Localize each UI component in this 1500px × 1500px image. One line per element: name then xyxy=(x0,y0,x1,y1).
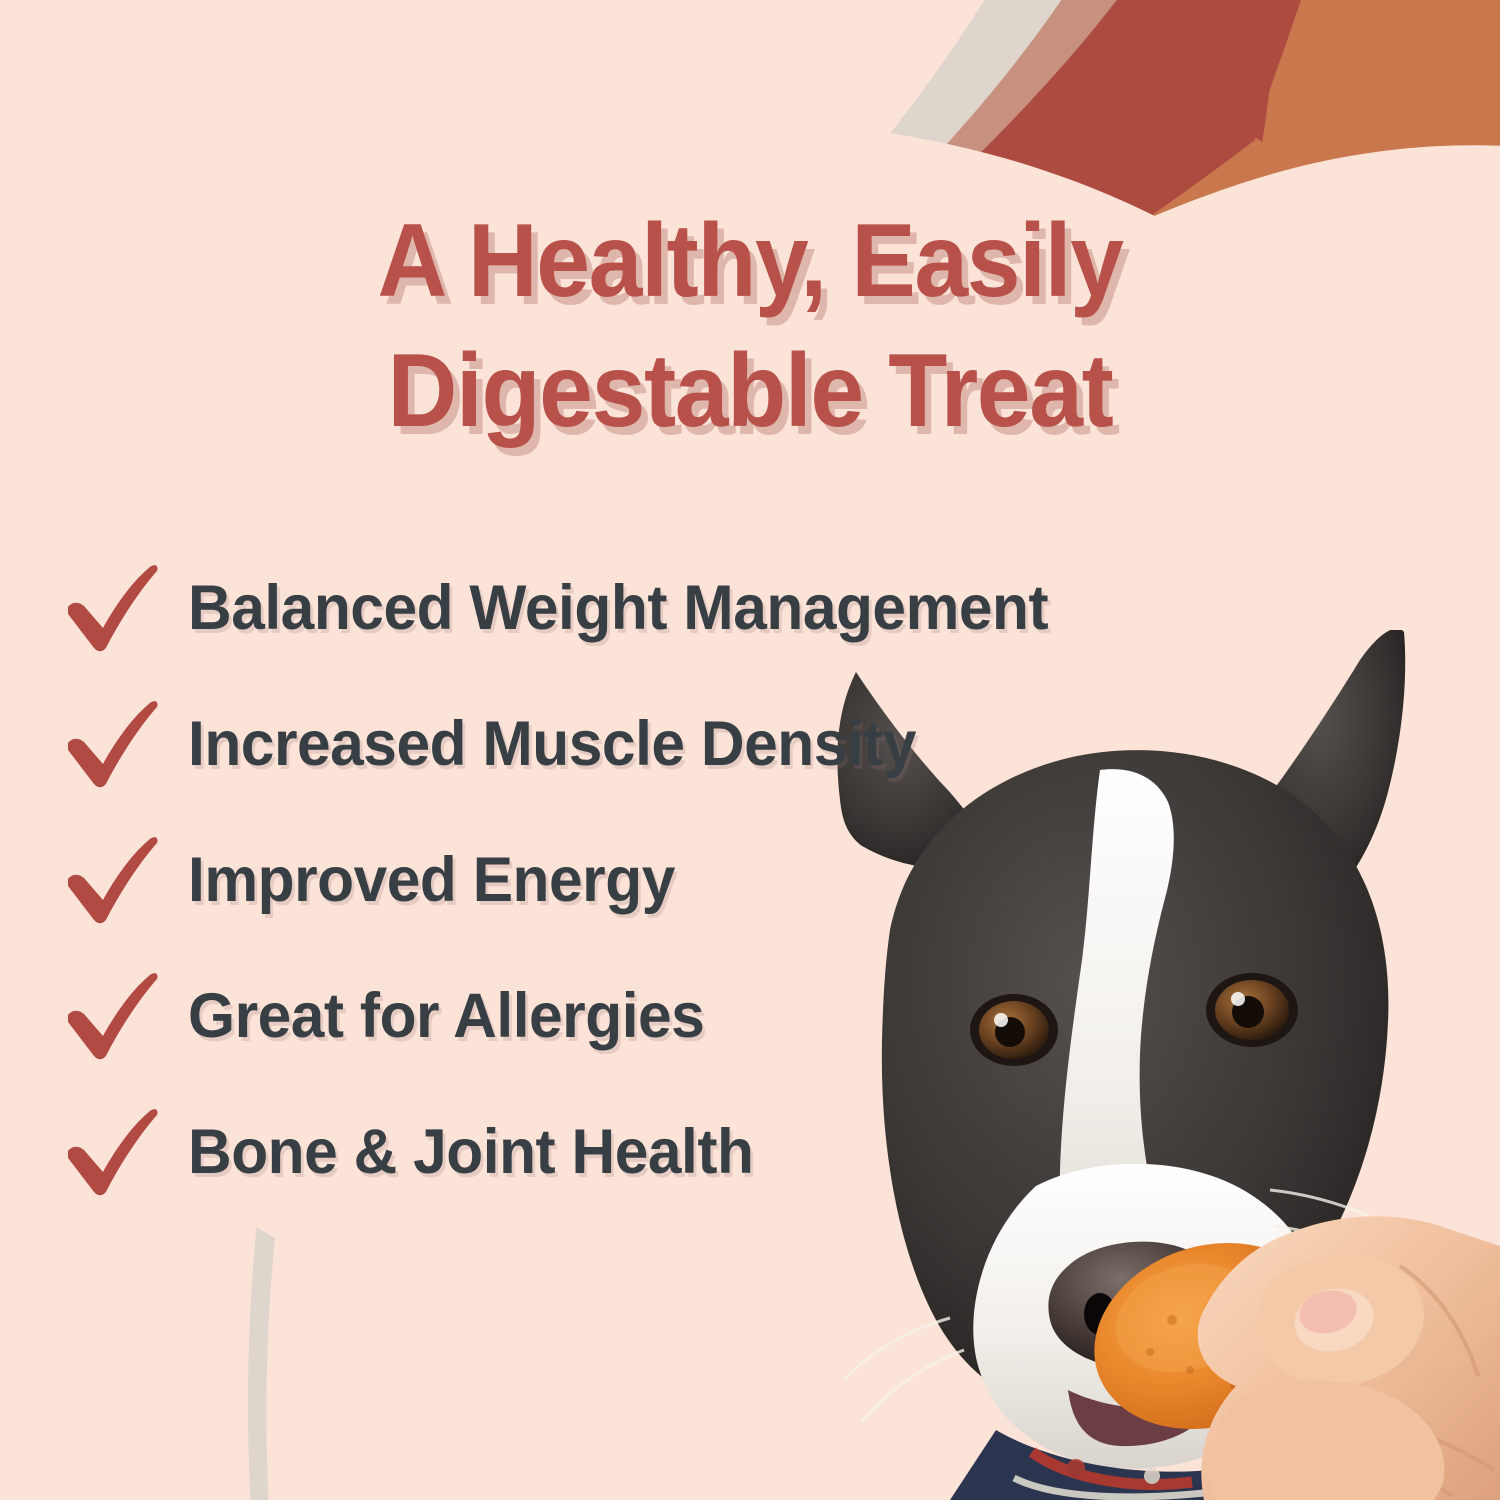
benefit-item: Balanced Weight Management xyxy=(62,540,1382,676)
benefit-label: Balanced Weight Management xyxy=(188,577,1048,640)
benefit-label: Great for Allergies xyxy=(188,985,704,1048)
benefit-label: Improved Energy xyxy=(188,849,675,912)
benefit-item: Improved Energy xyxy=(62,812,1382,948)
checkmark-icon xyxy=(62,970,166,1062)
benefit-list: Balanced Weight Management Increased Mus… xyxy=(62,540,1382,1220)
checkmark-icon xyxy=(62,834,166,926)
checkmark-icon xyxy=(62,562,166,654)
checkmark-icon xyxy=(62,698,166,790)
benefit-item: Great for Allergies xyxy=(62,948,1382,1084)
benefit-label: Bone & Joint Health xyxy=(188,1121,753,1184)
promo-graphic: A Healthy, Easily Digestable Treat Balan… xyxy=(0,0,1500,1500)
benefit-label: Increased Muscle Density xyxy=(188,713,916,776)
checkmark-icon xyxy=(62,1106,166,1198)
benefit-item: Bone & Joint Health xyxy=(62,1084,1382,1220)
benefit-item: Increased Muscle Density xyxy=(62,676,1382,812)
